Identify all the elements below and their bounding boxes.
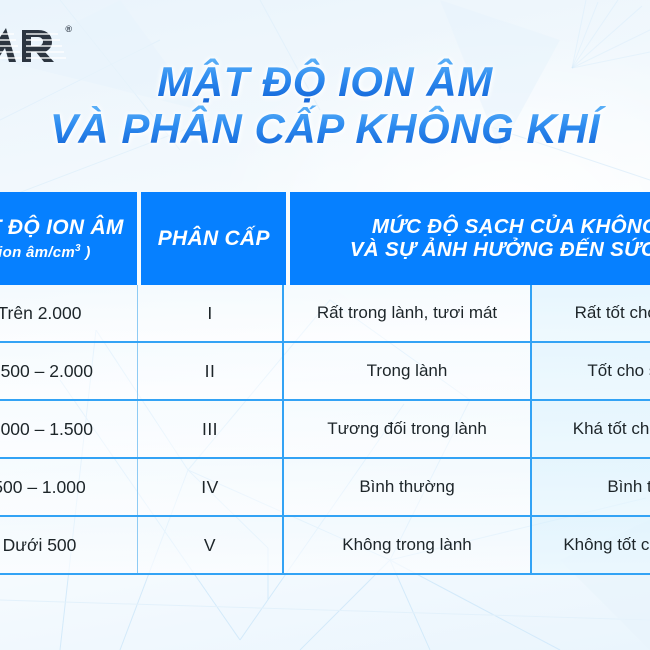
registered-mark-icon: ® — [65, 24, 72, 34]
cell-health: Tốt cho sức khỎe — [532, 343, 650, 399]
header-quality-line-1: MỨC ĐỘ SẠCH CỦA KHÔNG KHÍ — [372, 216, 650, 239]
page-title: MẬT ĐỘ ION ÂM VÀ PHÂN CẤP KHÔNG KHÍ — [0, 58, 650, 153]
cell-grade: V — [138, 517, 284, 573]
cell-density: 1.000 – 1.500 — [0, 401, 138, 457]
header-density-unit-suffix: ) — [81, 244, 91, 261]
cell-density: 500 – 1.000 — [0, 459, 138, 515]
cell-health: Rất tốt cho sức khỎe — [532, 285, 650, 341]
cell-quality: Bình thường — [284, 459, 532, 515]
title-line-2: VÀ PHÂN CẤP KHÔNG KHÍ — [0, 105, 650, 152]
table-row: 500 – 1.000 IV Bình thường Bình thường — [0, 459, 650, 517]
title-line-1: MẬT ĐỘ ION ÂM — [0, 58, 650, 105]
header-grade-label: PHÂN CẤP — [158, 227, 270, 251]
table-row: 1.000 – 1.500 III Tương đối trong lành K… — [0, 401, 650, 459]
cell-density: Dưới 500 — [0, 517, 138, 573]
table-row: Dưới 500 V Không trong lành Không tốt ch… — [0, 517, 650, 575]
cell-health: Không tốt cho sức khỎe — [532, 517, 650, 573]
header-quality-line-2: VÀ SỰ ẢNH HƯỞNG ĐẾN SỨC KHỎE — [350, 239, 650, 262]
table-row: Trên 2.000 I Rất trong lành, tươi mát Rấ… — [0, 285, 650, 343]
table-row: 1.500 – 2.000 II Trong lành Tốt cho sức … — [0, 343, 650, 401]
header-density-unit: ( ion âm/cm3 ) — [0, 243, 91, 261]
cell-quality: Không trong lành — [284, 517, 532, 573]
cell-quality: Trong lành — [284, 343, 532, 399]
cell-grade: III — [138, 401, 284, 457]
header-density-unit-prefix: ( ion âm/cm — [0, 244, 75, 261]
cell-quality: Rất trong lành, tươi mát — [284, 285, 532, 341]
cell-density: 1.500 – 2.000 — [0, 343, 138, 399]
cell-quality: Tương đối trong lành — [284, 401, 532, 457]
table-header-row: MẬT ĐỘ ION ÂM ( ion âm/cm3 ) PHÂN CẤP MỨ… — [0, 192, 650, 285]
header-cell-grade: PHÂN CẤP — [141, 192, 286, 285]
header-cell-density: MẬT ĐỘ ION ÂM ( ion âm/cm3 ) — [0, 192, 137, 285]
cell-grade: IV — [138, 459, 284, 515]
header-cell-quality: MỨC ĐỘ SẠCH CỦA KHÔNG KHÍ VÀ SỰ ẢNH HƯỞN… — [290, 192, 650, 285]
cell-health: Khá tốt cho sức khỎe — [532, 401, 650, 457]
header-density-main: MẬT ĐỘ ION ÂM — [0, 216, 124, 240]
ion-density-table: MẬT ĐỘ ION ÂM ( ion âm/cm3 ) PHÂN CẤP MỨ… — [0, 192, 650, 575]
cell-health: Bình thường — [532, 459, 650, 515]
cell-grade: II — [138, 343, 284, 399]
table-body: Trên 2.000 I Rất trong lành, tươi mát Rấ… — [0, 285, 650, 575]
cell-density: Trên 2.000 — [0, 285, 138, 341]
infographic-page: ® MẬT ĐỘ ION ÂM VÀ PHÂN CẤP KHÔNG KHÍ MẬ… — [0, 0, 650, 650]
cell-grade: I — [138, 285, 284, 341]
